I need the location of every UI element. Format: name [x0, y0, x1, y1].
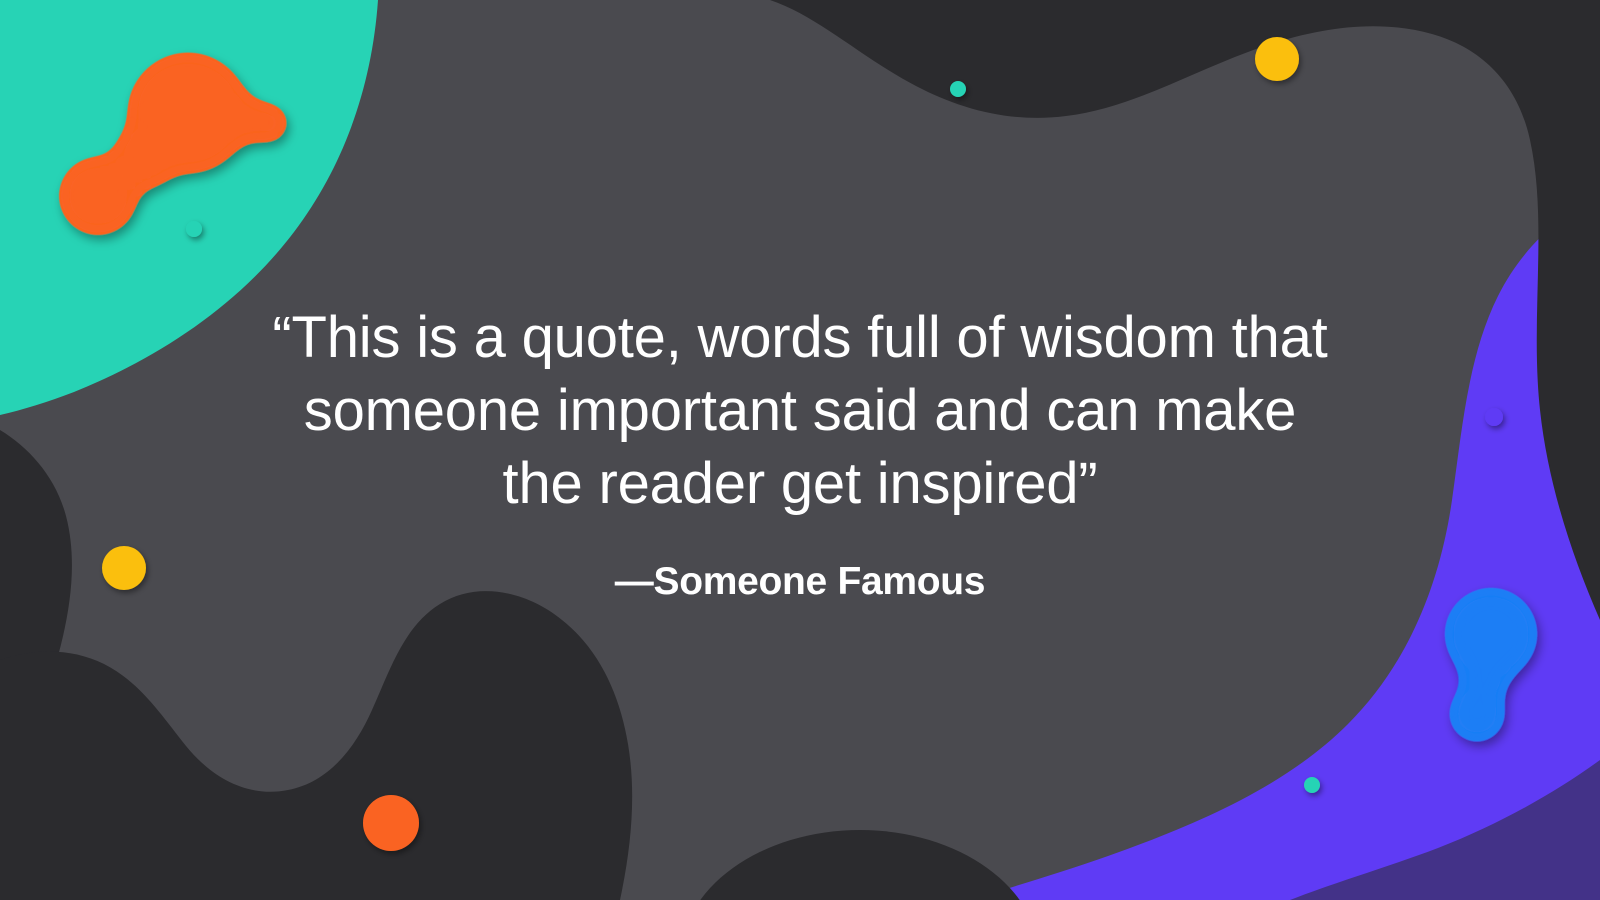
yellow-dot-left: [102, 546, 146, 590]
quote-slide: “This is a quote, words full of wisdom t…: [0, 0, 1600, 900]
yellow-dot-top-right: [1255, 37, 1299, 81]
decorative-background: [0, 0, 1600, 900]
teal-dot-upper-left: [186, 221, 202, 237]
purple-dot-right: [1485, 408, 1503, 426]
teal-dot-lower-right: [1304, 777, 1320, 793]
orange-dot-bottom: [363, 795, 419, 851]
teal-dot-top-center: [950, 81, 966, 97]
